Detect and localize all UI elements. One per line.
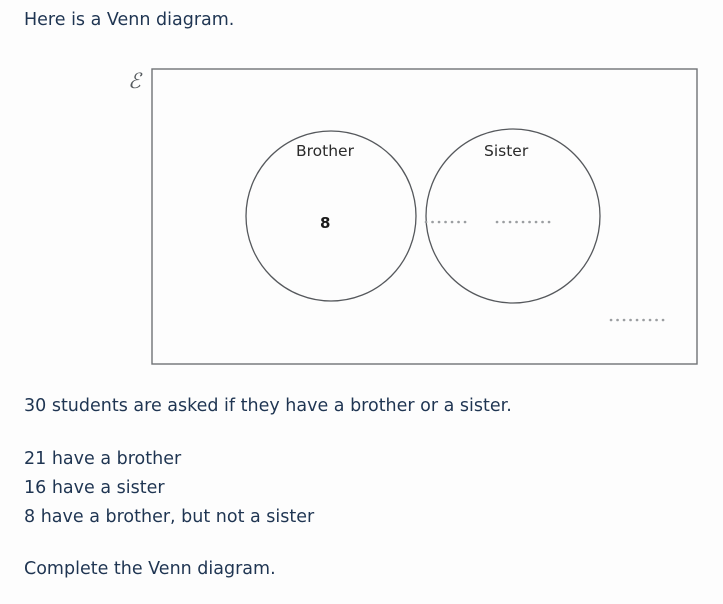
venn-diagram-svg: ℰ Brother Sister 8 [0,0,723,390]
venn-diagram-figure: ℰ Brother Sister 8 [0,0,723,390]
question-fact-2: 16 have a sister [24,480,165,498]
universal-set-symbol: ℰ [128,69,143,93]
question-fact-1: 21 have a brother [24,451,181,469]
brother-set-label: Brother [296,142,355,160]
region-brother-only-value: 8 [320,214,330,232]
question-fact-3: 8 have a brother, but not a sister [24,509,314,527]
sister-set-label: Sister [484,142,529,160]
universal-set-rectangle [152,69,697,364]
question-context-text: 30 students are asked if they have a bro… [24,398,512,416]
question-instruction-text: Complete the Venn diagram. [24,561,276,579]
